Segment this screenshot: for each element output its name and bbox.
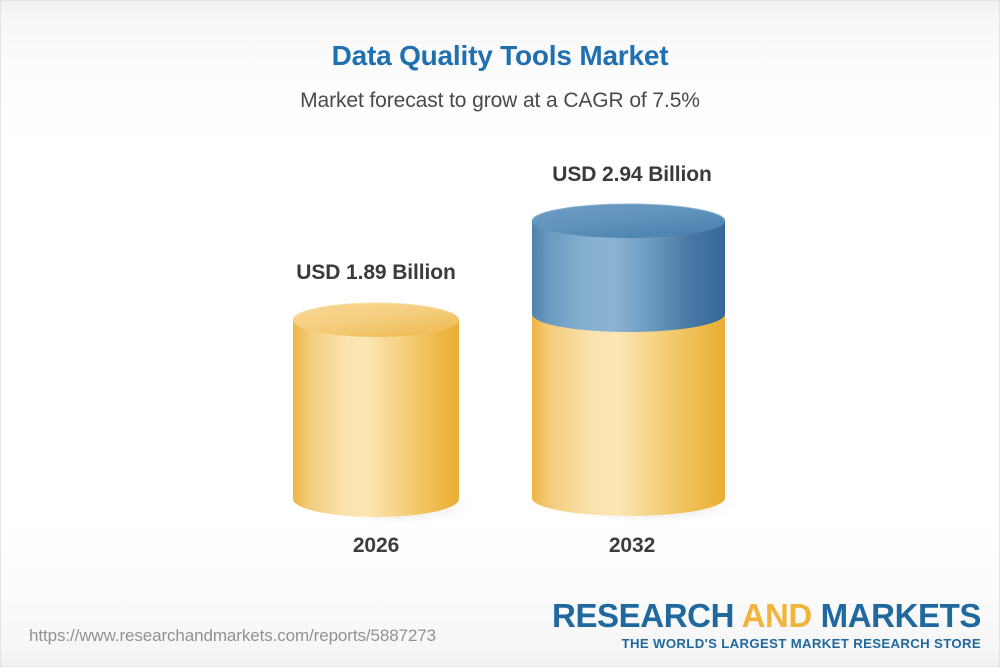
value-label-2032: USD 2.94 Billion <box>525 163 739 187</box>
cylinder-2032[interactable] <box>532 204 732 519</box>
brand-logo: RESEARCH AND MARKETS THE WORLD'S LARGEST… <box>552 599 981 650</box>
cylinder-2026[interactable] <box>293 303 465 519</box>
source-url[interactable]: https://www.researchandmarkets.com/repor… <box>29 626 436 646</box>
infographic-canvas: Data Quality Tools Market Market forecas… <box>0 0 1000 667</box>
category-label-2032: 2032 <box>525 534 739 558</box>
value-label-2026: USD 1.89 Billion <box>286 261 466 285</box>
brand-word-markets: MARKETS <box>812 597 981 634</box>
brand-word-and: AND <box>742 597 812 634</box>
plot-area: USD 1.89 Billion <box>1 1 1000 601</box>
category-label-2026: 2026 <box>286 534 466 558</box>
brand-tagline: THE WORLD'S LARGEST MARKET RESEARCH STOR… <box>552 637 981 650</box>
brand-logo-wordmark: RESEARCH AND MARKETS <box>552 599 981 632</box>
brand-word-research: RESEARCH <box>552 597 742 634</box>
